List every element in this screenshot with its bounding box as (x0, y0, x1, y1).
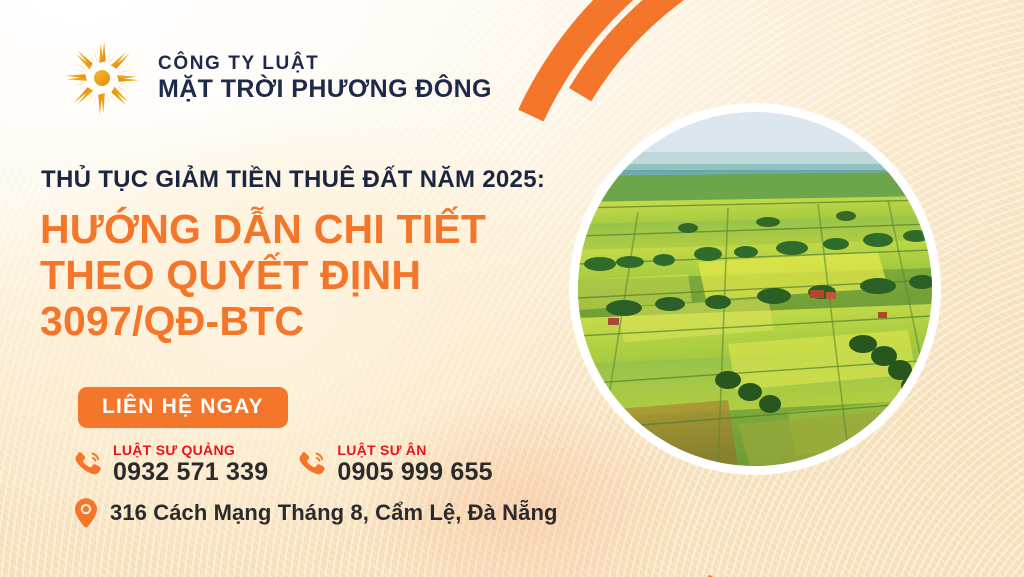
address-row[interactable]: 316 Cách Mạng Tháng 8, Cẩm Lệ, Đà Nẵng (72, 497, 558, 529)
hero-title-line-2: THEO QUYẾT ĐỊNH (40, 252, 486, 298)
contact-block: LUẬT SƯ QUẢNG 0932 571 339 LUẬT SƯ ÂN (72, 443, 558, 529)
logo-line-1: CÔNG TY LUẬT (158, 54, 492, 73)
address-text: 316 Cách Mạng Tháng 8, Cẩm Lệ, Đà Nẵng (110, 500, 558, 526)
contact-now-button[interactable]: LIÊN HỆ NGAY (78, 387, 288, 428)
company-logo[interactable]: CÔNG TY LUẬT MẶT TRỜI PHƯƠNG ĐÔNG (60, 36, 492, 120)
logo-line-2: MẶT TRỜI PHƯƠNG ĐÔNG (158, 77, 492, 102)
hero-title-line-1: HƯỚNG DẪN CHI TIẾT (40, 206, 486, 252)
hero-title-line-3: 3097/QĐ-BTC (40, 298, 486, 344)
banner-canvas: CÔNG TY LUẬT MẶT TRỜI PHƯƠNG ĐÔNG THỦ TỤ… (0, 0, 1024, 577)
phone-label-2: LUẬT SƯ ÂN (337, 443, 492, 457)
phone-entry-1[interactable]: LUẬT SƯ QUẢNG 0932 571 339 (72, 443, 268, 485)
aerial-rice-fields-photo (578, 112, 932, 466)
phone-entry-2[interactable]: LUẬT SƯ ÂN 0905 999 655 (296, 443, 492, 485)
sun-burst-icon (60, 36, 144, 120)
phone-label-1: LUẬT SƯ QUẢNG (113, 443, 268, 457)
phone-number-2[interactable]: 0905 999 655 (337, 460, 492, 485)
hero-title: HƯỚNG DẪN CHI TIẾT THEO QUYẾT ĐỊNH 3097/… (40, 206, 486, 344)
phone-call-icon (72, 448, 104, 480)
phone-row: LUẬT SƯ QUẢNG 0932 571 339 LUẬT SƯ ÂN (72, 443, 558, 485)
phone-number-1[interactable]: 0932 571 339 (113, 460, 268, 485)
phone-call-icon (296, 448, 328, 480)
hero-kicker: THỦ TỤC GIẢM TIỀN THUÊ ĐẤT NĂM 2025: (41, 168, 545, 192)
map-pin-icon (72, 497, 100, 529)
